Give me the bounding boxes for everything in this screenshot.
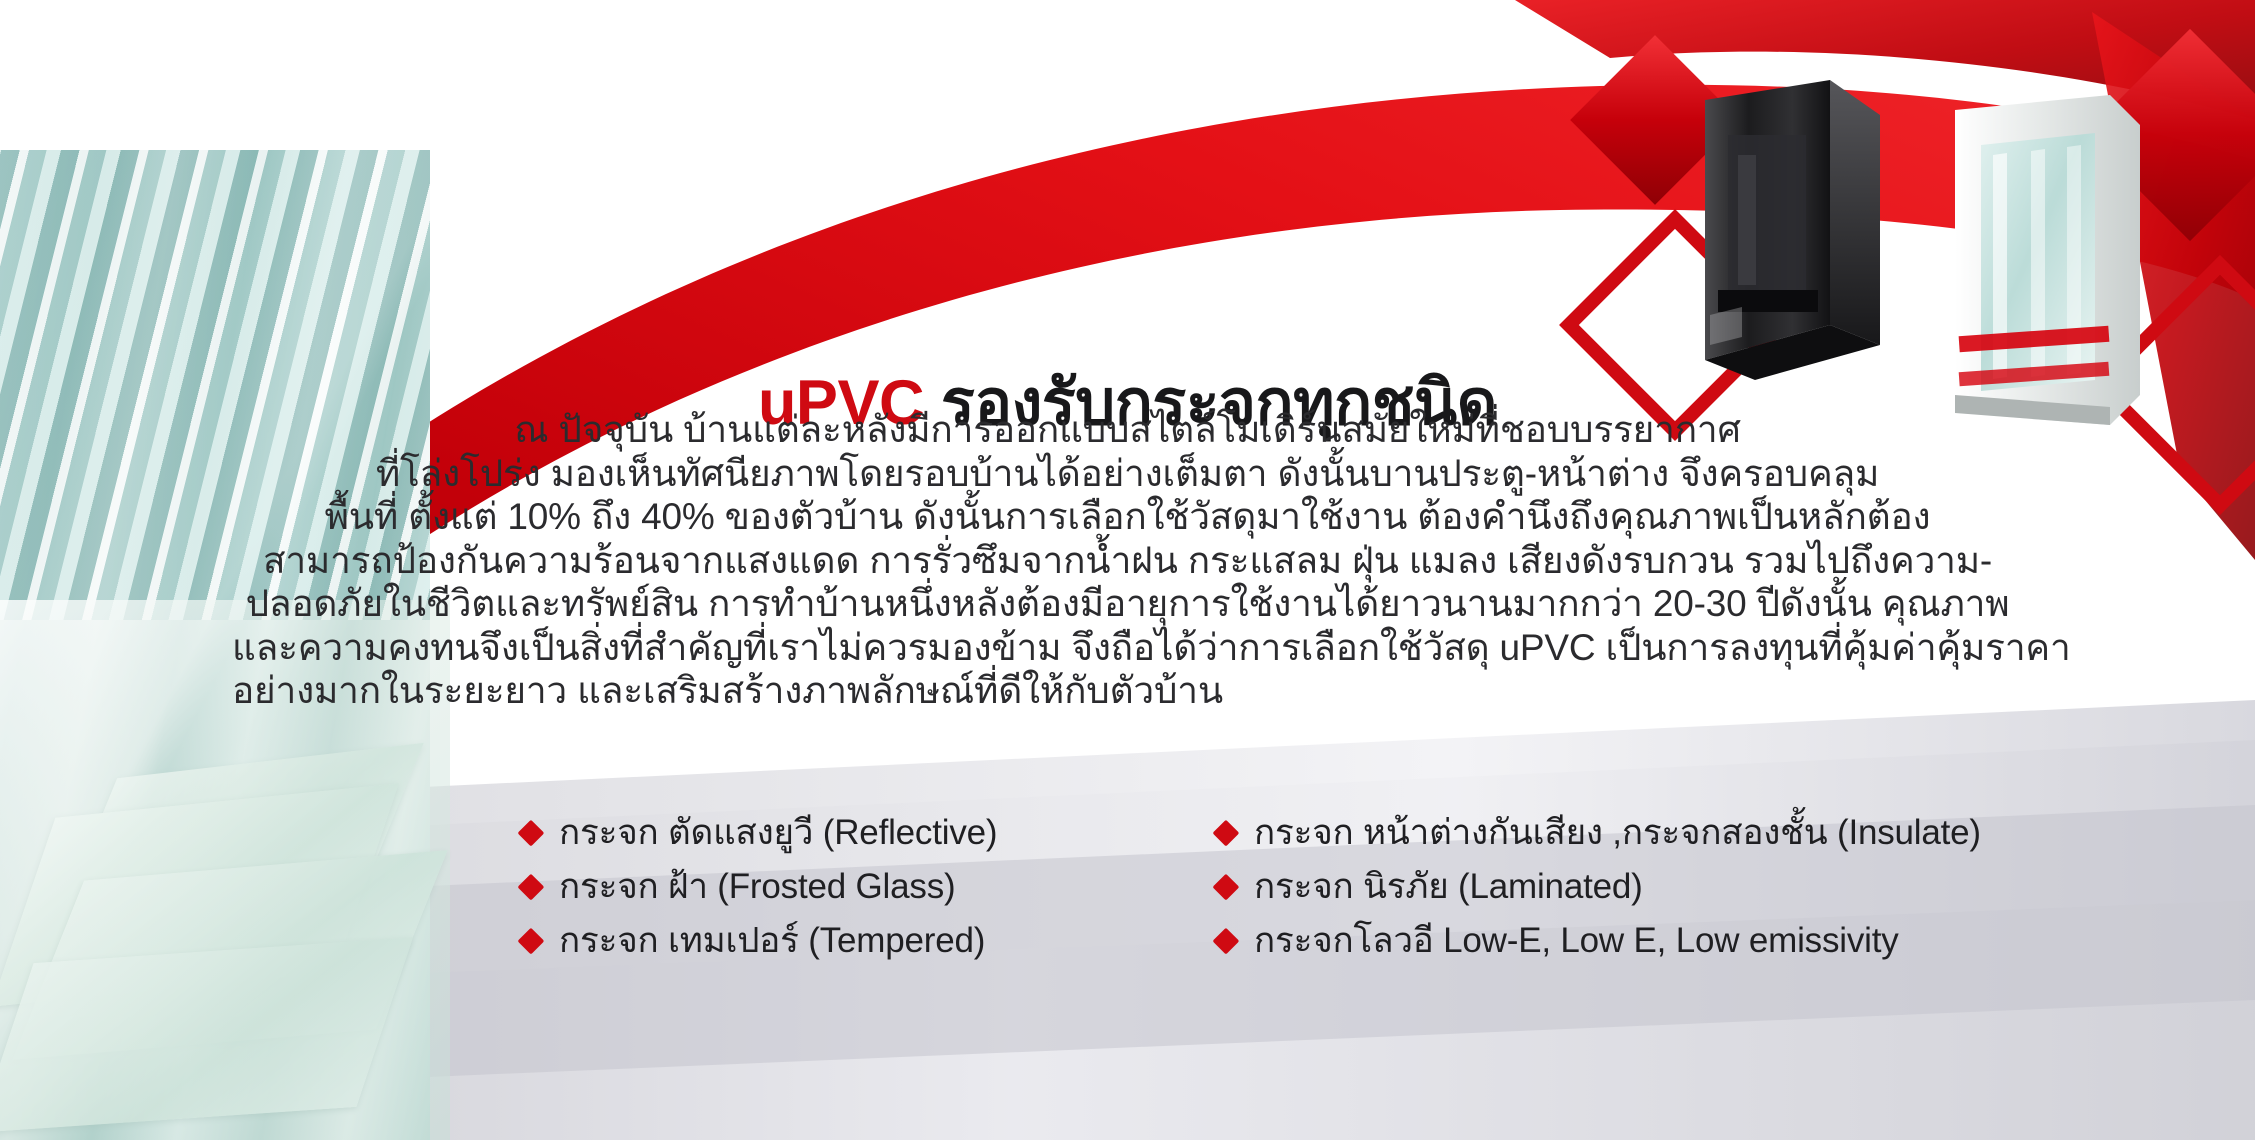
list-item: กระจก หน้าต่างกันเสียง ,กระจกสองชั้น (In… (1215, 805, 1981, 859)
diamond-bullet-icon (1212, 874, 1239, 901)
list-item: กระจกโลวอี Low-E, Low E, Low emissivity (1215, 913, 1981, 967)
list-item-label: กระจก ตัดแสงยูวี (Reflective) (559, 805, 997, 860)
list-item: กระจก ฝ้า (Frosted Glass) (520, 859, 997, 913)
diamond-bullet-icon (1212, 820, 1239, 847)
glass-type-lists: กระจก ตัดแสงยูวี (Reflective) กระจก ฝ้า … (0, 805, 2255, 965)
list-item-label: กระจก เทมเปอร์ (Tempered) (559, 913, 985, 968)
glass-list-right: กระจก หน้าต่างกันเสียง ,กระจกสองชั้น (In… (1215, 805, 1981, 967)
banner-content: uPVC รองรับกระจกทุกชนิด ณ ปัจจุบัน บ้านแ… (0, 0, 2255, 1140)
paragraph-line-1: ณ ปัจจุบัน บ้านแต่ละหลังมีการออกแบบสไตล์… (0, 408, 2255, 452)
list-item-label: กระจก นิรภัย (Laminated) (1254, 859, 1643, 914)
list-item-label: กระจก ฝ้า (Frosted Glass) (559, 859, 955, 914)
list-item: กระจก ตัดแสงยูวี (Reflective) (520, 805, 997, 859)
diamond-bullet-icon (517, 874, 544, 901)
list-item-label: กระจก หน้าต่างกันเสียง ,กระจกสองชั้น (In… (1254, 805, 1981, 860)
list-item: กระจก นิรภัย (Laminated) (1215, 859, 1981, 913)
paragraph-line-4: สามารถป้องกันความร้อนจากแสงแดด การรั่วซึ… (0, 539, 2255, 583)
paragraph-line-2: ที่โล่งโปร่ง มองเห็นทัศนียภาพโดยรอบบ้านไ… (0, 452, 2255, 496)
diamond-bullet-icon (1212, 928, 1239, 955)
paragraph-line-7: อย่างมากในระยะยาว และเสริมสร้างภาพลักษณ์… (0, 669, 2255, 713)
paragraph-line-3: พื้นที่ ตั้งแต่ 10% ถึง 40% ของตัวบ้าน ด… (0, 495, 2255, 539)
diamond-bullet-icon (517, 820, 544, 847)
body-paragraph: ณ ปัจจุบัน บ้านแต่ละหลังมีการออกแบบสไตล์… (0, 408, 2255, 713)
list-item-label: กระจกโลวอี Low-E, Low E, Low emissivity (1254, 913, 1899, 968)
glass-list-left: กระจก ตัดแสงยูวี (Reflective) กระจก ฝ้า … (520, 805, 997, 967)
banner-root: uPVC รองรับกระจกทุกชนิด ณ ปัจจุบัน บ้านแ… (0, 0, 2255, 1140)
diamond-bullet-icon (517, 928, 544, 955)
list-item: กระจก เทมเปอร์ (Tempered) (520, 913, 997, 967)
paragraph-line-5: ปลอดภัยในชีวิตและทรัพย์สิน การทำบ้านหนึ่… (0, 582, 2255, 626)
paragraph-line-6: และความคงทนจึงเป็นสิ่งที่สำคัญที่เราไม่ค… (0, 626, 2255, 670)
